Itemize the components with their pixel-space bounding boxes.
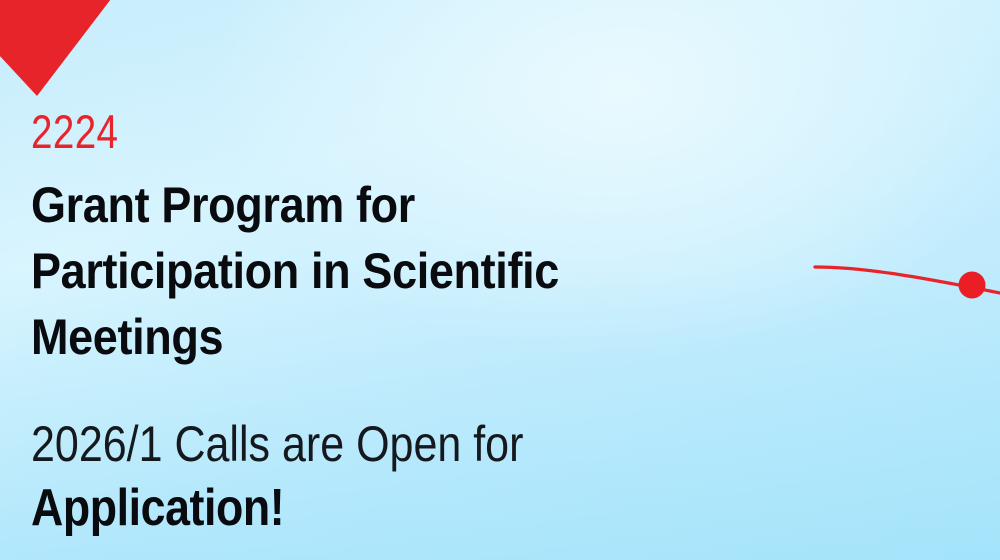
- headline-line-2: Participation in Scientific: [31, 238, 559, 304]
- headline-line-1: Grant Program for: [31, 172, 559, 238]
- announcement-banner: 2224 Grant Program for Participation in …: [0, 0, 1000, 560]
- page-title: Grant Program for Participation in Scien…: [31, 172, 559, 370]
- red-triangle-icon: [0, 0, 111, 96]
- headline-line-3: Meetings: [31, 304, 559, 370]
- red-curve-decoration: [795, 248, 1000, 328]
- call-status-subheading: 2026/1 Calls are Open for Application!: [31, 412, 523, 540]
- subheading-line-2: Application!: [31, 476, 523, 540]
- red-dot-marker: [959, 272, 986, 299]
- program-code-label: 2224: [31, 108, 118, 155]
- subheading-line-1: 2026/1 Calls are Open for: [31, 412, 523, 476]
